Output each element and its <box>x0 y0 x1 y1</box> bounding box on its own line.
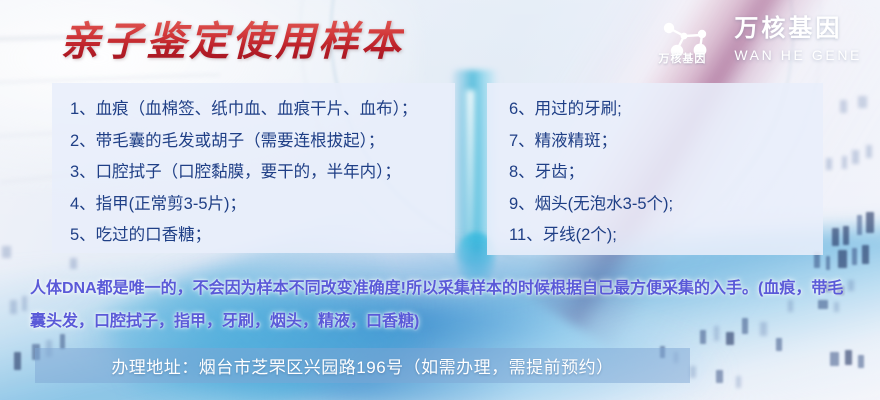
list-item: 3、口腔拭子（口腔黏膜，要干的，半年内）； <box>70 164 455 181</box>
poster-canvas: 亲子鉴定使用样本 万核基因 万核基因 WAN HE GENE 1、血痕（血棉签 <box>0 0 880 400</box>
sample-list-panel-right: 6、用过的牙刷; 7、精液精斑； 8、牙齿； 9、烟头(无泡水3-5个); 11… <box>487 83 823 255</box>
sample-list-panel-left: 1、血痕（血棉签、纸巾血、血痕干片、血布）； 2、带毛囊的毛发或胡子（需要连根拔… <box>52 83 455 253</box>
page-title: 亲子鉴定使用样本 <box>60 18 404 66</box>
brand-name-cn: 万核基因 <box>734 17 862 41</box>
list-item: 5、吃过的口香糖； <box>70 227 455 244</box>
sample-list-right: 6、用过的牙刷; 7、精液精斑； 8、牙齿； 9、烟头(无泡水3-5个); 11… <box>487 83 823 244</box>
list-item: 1、血痕（血棉签、纸巾血、血痕干片、血布）； <box>70 101 455 118</box>
list-item: 4、指甲(正常剪3-5片)； <box>70 196 455 213</box>
brand-logo: 万核基因 万核基因 WAN HE GENE <box>656 14 862 64</box>
list-item: 8、牙齿； <box>509 164 823 181</box>
list-item: 7、精液精斑； <box>509 133 823 150</box>
address-text: 办理地址：烟台市芝罘区兴园路196号（如需办理，需提前预约） <box>111 353 613 378</box>
dna-note-text: 人体DNA都是唯一的，不会因为样本不同改变准确度!所以采集样本的时候根据自己最方… <box>30 272 850 338</box>
list-item: 9、烟头(无泡水3-5个); <box>509 196 823 213</box>
address-bar: 办理地址：烟台市芝罘区兴园路196号（如需办理，需提前预约） <box>35 348 690 383</box>
list-item: 11、牙线(2个); <box>509 227 823 244</box>
list-item: 2、带毛囊的毛发或胡子（需要连根拔起）； <box>70 133 455 150</box>
sample-list-left: 1、血痕（血棉签、纸巾血、血痕干片、血布）； 2、带毛囊的毛发或胡子（需要连根拔… <box>52 83 455 244</box>
molecule-icon: 万核基因 <box>656 14 720 64</box>
logo-mark-label: 万核基因 <box>658 50 706 66</box>
brand-name-en: WAN HE GENE <box>734 48 862 62</box>
list-item: 6、用过的牙刷; <box>509 101 823 118</box>
brand-name-block: 万核基因 WAN HE GENE <box>734 17 862 62</box>
